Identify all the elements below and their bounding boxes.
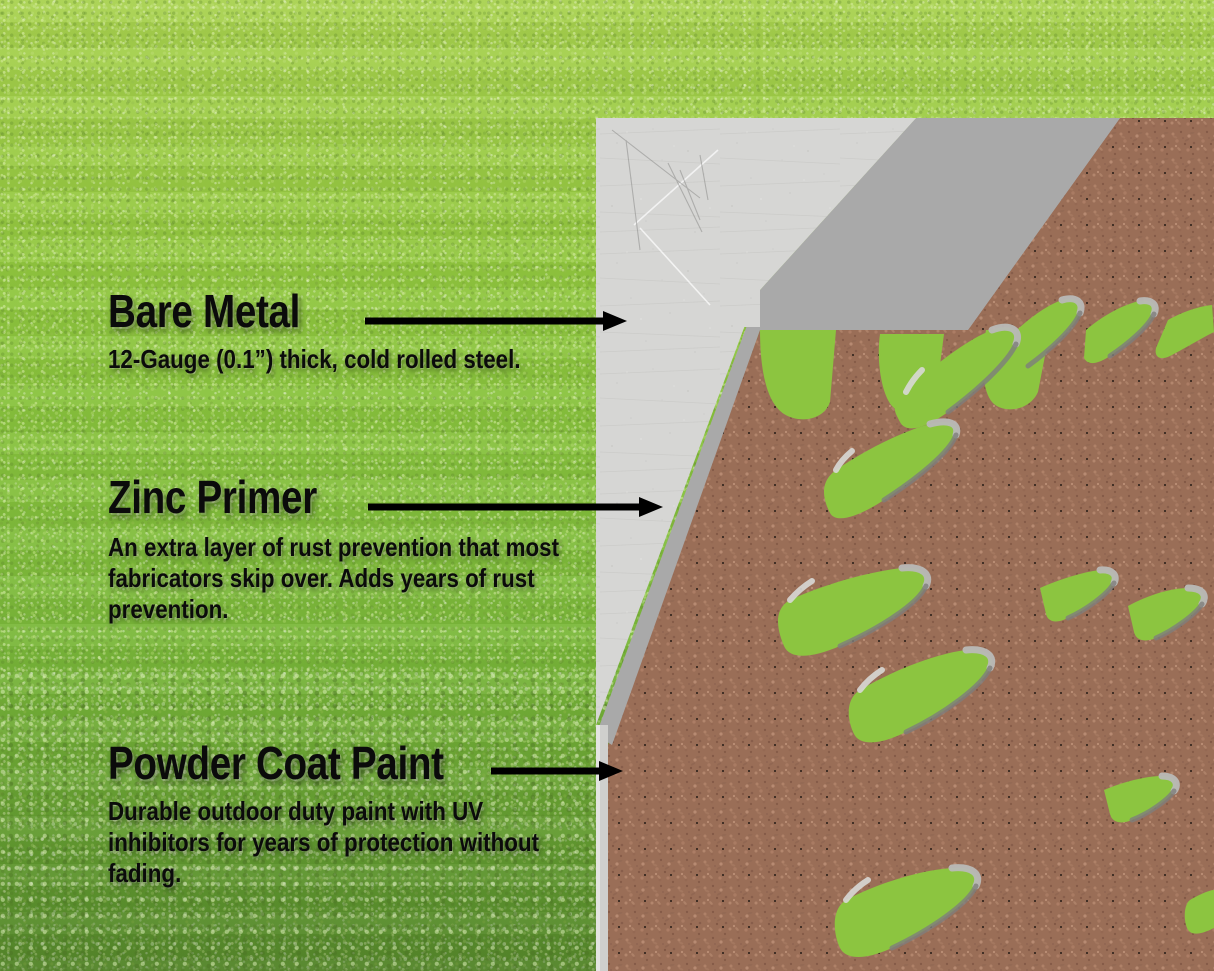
callout-body-powder-coat: Durable outdoor duty paint with UV inhib… bbox=[108, 796, 555, 890]
callout-title-bare-metal: Bare Metal bbox=[108, 288, 511, 334]
callout-bare-metal: Bare Metal 12-Gauge (0.1”) thick, cold r… bbox=[108, 288, 588, 375]
callout-body-zinc-primer: An extra layer of rust prevention that m… bbox=[108, 532, 590, 626]
callout-title-zinc-primer: Zinc Primer bbox=[108, 474, 578, 520]
callout-zinc-primer: Zinc Primer An extra layer of rust preve… bbox=[108, 474, 668, 626]
callout-title-powder-coat: Powder Coat Paint bbox=[108, 740, 545, 786]
callout-powder-coat: Powder Coat Paint Durable outdoor duty p… bbox=[108, 740, 628, 890]
callout-body-bare-metal: 12-Gauge (0.1”) thick, cold rolled steel… bbox=[108, 344, 521, 375]
infographic-canvas: Bare Metal 12-Gauge (0.1”) thick, cold r… bbox=[0, 0, 1214, 971]
